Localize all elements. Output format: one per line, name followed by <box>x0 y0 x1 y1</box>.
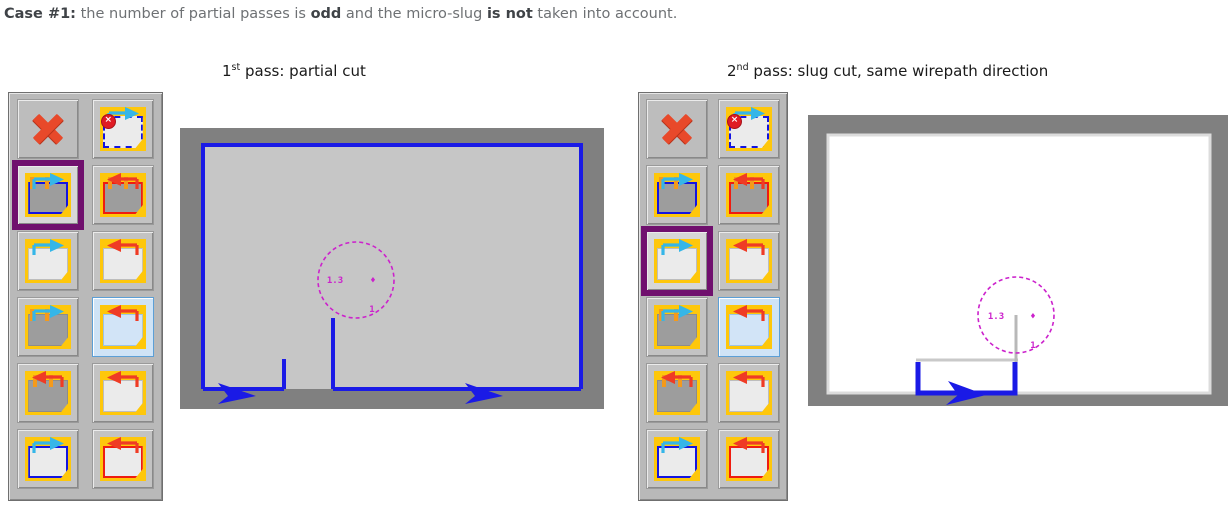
slug-cut-left-highlight-icon <box>100 305 146 349</box>
palette-row <box>11 426 160 492</box>
palette-row <box>641 360 785 426</box>
palette-cell <box>641 360 713 426</box>
caption-emphasis-isnot: is not <box>487 6 533 22</box>
palette-cell <box>641 228 713 294</box>
palette-cell: × <box>86 96 161 162</box>
palette-cell <box>713 360 785 426</box>
palette-row <box>11 228 160 294</box>
tool-button-slug-cut-left-gray[interactable] <box>646 363 708 423</box>
tool-button-slug-cut-left-gray[interactable] <box>17 363 79 423</box>
tool-button-no-cut-delete[interactable] <box>17 99 79 159</box>
tool-button-full-cut-right-blue[interactable] <box>646 429 708 489</box>
tool-button-start-dashed-blue-right[interactable]: × <box>718 99 780 159</box>
slug-label-top-1: 1.3 <box>327 276 343 286</box>
partial-cut-left-red-icon <box>726 173 772 217</box>
partial-cut-right-blue-icon <box>654 173 700 217</box>
palette-row <box>641 228 785 294</box>
slug-label-bottom-1: 1 <box>369 305 374 315</box>
left-palette[interactable]: × <box>8 92 163 501</box>
slug-cut-right-gray-icon <box>25 305 71 349</box>
slug-cut-left-gray-icon <box>654 371 700 415</box>
pass1-canvas: 1.3 ♦ 1 <box>180 128 604 409</box>
tool-button-partial-cut-right-blue[interactable] <box>17 165 79 225</box>
tool-button-full-cut-left-red[interactable] <box>718 429 780 489</box>
start-dashed-blue-right-icon: × <box>726 107 772 151</box>
pass1-heading: 1st pass: partial cut <box>222 62 366 80</box>
pass2-ordinal: 2 <box>727 62 737 80</box>
tool-button-no-cut-delete[interactable] <box>646 99 708 159</box>
palette-row <box>11 294 160 360</box>
case-label: Case #1: <box>4 6 76 22</box>
full-cut-left-red-icon <box>726 437 772 481</box>
slug-label-top-2: 1.3 <box>988 312 1004 322</box>
palette-cell <box>86 162 161 228</box>
slug-label-bottom-2: 1 <box>1030 341 1035 351</box>
no-cut-delete-icon <box>28 110 68 148</box>
cut-right-plain-icon <box>654 239 700 283</box>
caption-part-1: the number of partial passes is <box>76 6 311 22</box>
pass1-viewport[interactable]: 1.3 ♦ 1 <box>180 128 604 409</box>
full-cut-right-blue-icon <box>654 437 700 481</box>
palette-row <box>11 360 160 426</box>
tool-button-cut-left-plain[interactable] <box>718 231 780 291</box>
part-body-2 <box>828 135 1210 393</box>
final-cut-left-icon <box>726 371 772 415</box>
palette-cell <box>86 426 161 492</box>
full-cut-left-red-icon <box>100 437 146 481</box>
palette-row <box>641 162 785 228</box>
slug-cut-right-gray-icon <box>654 305 700 349</box>
caption-part-3: taken into account. <box>533 6 678 22</box>
slug-marker-2: ♦ <box>1030 312 1035 322</box>
palette-cell <box>641 294 713 360</box>
no-cut-badge-icon: × <box>101 114 116 129</box>
tool-button-cut-right-plain[interactable] <box>646 231 708 291</box>
cut-left-plain-icon <box>726 239 772 283</box>
pass2-heading-text: pass: slug cut, same wirepath direction <box>749 62 1049 80</box>
palette-cell <box>713 228 785 294</box>
tool-button-slug-cut-right-gray[interactable] <box>646 297 708 357</box>
palette-cell <box>86 360 161 426</box>
caption-emphasis-odd: odd <box>311 6 342 22</box>
partial-cut-right-blue-icon <box>25 173 71 217</box>
tool-button-final-cut-left[interactable] <box>718 363 780 423</box>
tool-button-slug-cut-right-gray[interactable] <box>17 297 79 357</box>
partial-cut-left-red-icon <box>100 173 146 217</box>
palette-cell <box>713 426 785 492</box>
palette-row <box>641 426 785 492</box>
palette-cell <box>11 294 86 360</box>
palette-cell <box>11 426 86 492</box>
no-cut-badge-icon: × <box>727 114 742 129</box>
palette-cell <box>86 294 161 360</box>
palette-cell <box>11 228 86 294</box>
palette-cell <box>713 162 785 228</box>
right-palette[interactable]: × <box>638 92 788 501</box>
palette-cell <box>11 360 86 426</box>
tool-button-cut-left-plain[interactable] <box>92 231 154 291</box>
caption-part-2: and the micro-slug <box>341 6 487 22</box>
palette-cell <box>86 228 161 294</box>
palette-row <box>641 294 785 360</box>
palette-cell <box>713 294 785 360</box>
palette-row: × <box>11 96 160 162</box>
tool-button-slug-cut-left-highlight[interactable] <box>718 297 780 357</box>
pass2-canvas: 1.3 ♦ 1 <box>808 115 1228 406</box>
palette-cell <box>641 162 713 228</box>
tool-button-final-cut-left[interactable] <box>92 363 154 423</box>
tool-button-full-cut-right-blue[interactable] <box>17 429 79 489</box>
tool-button-partial-cut-right-blue[interactable] <box>646 165 708 225</box>
pass1-heading-text: pass: partial cut <box>240 62 366 80</box>
case-caption: Case #1: the number of partial passes is… <box>4 5 1004 23</box>
palette-cell <box>11 162 86 228</box>
palette-cell <box>11 96 86 162</box>
palette-row <box>11 162 160 228</box>
no-cut-delete-icon <box>657 110 697 148</box>
start-dashed-blue-right-icon: × <box>100 107 146 151</box>
cut-right-plain-icon <box>25 239 71 283</box>
slug-marker-1: ♦ <box>370 276 375 286</box>
pass2-viewport[interactable]: 1.3 ♦ 1 <box>808 115 1228 406</box>
final-cut-left-icon <box>100 371 146 415</box>
pass1-ordinal: 1 <box>222 62 232 80</box>
pass1-ordinal-suffix: st <box>232 62 241 73</box>
slug-cut-left-highlight-icon <box>726 305 772 349</box>
tool-button-partial-cut-left-red[interactable] <box>718 165 780 225</box>
palette-cell <box>641 426 713 492</box>
slug-cut-left-gray-icon <box>25 371 71 415</box>
tool-button-partial-cut-left-red[interactable] <box>92 165 154 225</box>
tool-button-full-cut-left-red[interactable] <box>92 429 154 489</box>
palette-cell: × <box>713 96 785 162</box>
full-cut-right-blue-icon <box>25 437 71 481</box>
palette-cell <box>641 96 713 162</box>
pass2-ordinal-suffix: nd <box>737 62 749 73</box>
tool-button-start-dashed-blue-right[interactable]: × <box>92 99 154 159</box>
pass2-heading: 2nd pass: slug cut, same wirepath direct… <box>727 62 1048 80</box>
cut-left-plain-icon <box>100 239 146 283</box>
tool-button-cut-right-plain[interactable] <box>17 231 79 291</box>
tool-button-slug-cut-left-highlight[interactable] <box>92 297 154 357</box>
palette-row: × <box>641 96 785 162</box>
